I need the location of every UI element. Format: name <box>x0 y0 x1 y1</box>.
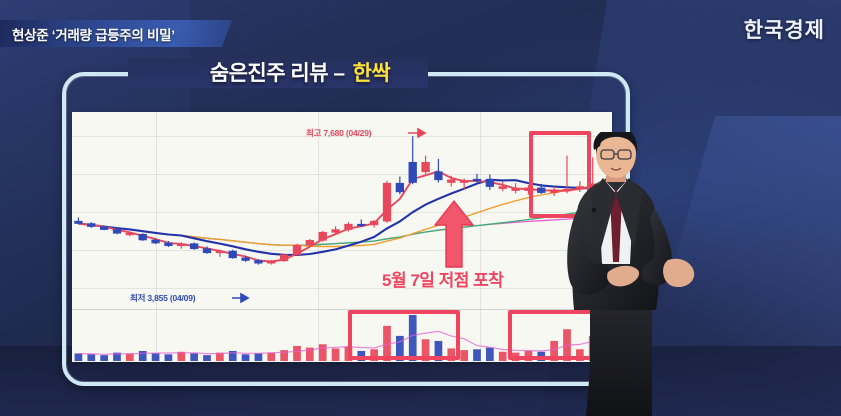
board-title: 숨은진주 리뷰 – 한싹 <box>150 56 450 88</box>
network-logo: 한국경제 <box>744 14 825 44</box>
bottom-catch-annotation: 5월 7일 저점 포착 <box>382 266 503 291</box>
broadcast-screen: 현상준 ‘거래량 급등주의 비밀’ 한국경제 숨은진주 리뷰 – 한싹 최고 7… <box>0 0 841 416</box>
upward-arrow-icon <box>433 199 475 269</box>
program-banner: 현상준 ‘거래량 급등주의 비밀’ <box>0 20 232 47</box>
board-title-main: 숨은진주 리뷰 – <box>210 57 345 87</box>
low-price-annotation: 최저 3,855 (04/09) <box>130 292 195 304</box>
presenter-figure <box>556 132 776 416</box>
low-arrow-icon <box>232 293 252 303</box>
volume-highlight-box-left <box>348 310 460 360</box>
high-arrow-icon <box>408 128 430 138</box>
high-price-annotation: 최고 7,680 (04/29) <box>306 127 371 139</box>
program-banner-text: 현상준 ‘거래량 급등주의 비밀’ <box>0 24 175 44</box>
board-title-accent: 한싹 <box>353 57 391 87</box>
